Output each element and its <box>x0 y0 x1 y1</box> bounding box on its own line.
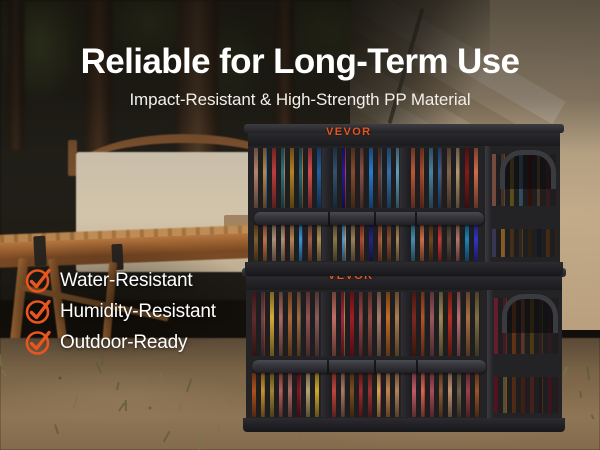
headline: Reliable for Long-Term Use <box>0 44 600 79</box>
crate-vent-panel <box>254 225 321 261</box>
feature-label: Water-Resistant <box>60 270 193 292</box>
crate-lid-lip <box>244 124 564 133</box>
crate-slats <box>411 148 478 208</box>
feature-item: Humidity-Resistant <box>26 297 216 326</box>
crate-slats <box>411 225 478 261</box>
crate-vent-panel <box>333 148 400 208</box>
storage-crate-lower: VEVOR <box>246 268 562 432</box>
hinge-segment <box>374 360 376 373</box>
crate-corner-edge <box>487 290 494 419</box>
crate-slats <box>252 373 320 417</box>
hinge-segment <box>416 360 418 373</box>
crate-vent-panel <box>332 292 400 356</box>
crate-vent-panel <box>252 292 320 356</box>
crate-hinge-bar <box>254 212 484 225</box>
crate-slats <box>252 292 320 356</box>
crate-post <box>321 292 332 356</box>
crate-corner-edge <box>485 146 492 263</box>
crate-post <box>401 292 412 356</box>
crate-base <box>243 418 565 432</box>
crate-vent-panel <box>412 292 480 356</box>
crate-slats <box>494 377 558 413</box>
crate-post <box>321 373 332 417</box>
crate-vent-panel <box>333 225 400 261</box>
crate-base <box>245 262 563 276</box>
crate-vent-panel <box>412 373 480 417</box>
feature-item: Outdoor-Ready <box>26 328 216 357</box>
crate-post <box>400 148 411 208</box>
brand-logo-upper: VEVOR <box>326 126 372 138</box>
crate-vent-panel <box>411 225 478 261</box>
hinge-segment <box>415 212 417 225</box>
crate-vent-panel <box>252 373 320 417</box>
crate-side-vent-panel <box>494 377 558 413</box>
feature-item: Water-Resistant <box>26 266 216 295</box>
check-circle-icon <box>26 299 51 324</box>
crate-slats <box>412 292 480 356</box>
crate-slats <box>333 225 400 261</box>
hinge-segment <box>328 212 330 225</box>
crate-vent-panel <box>332 373 400 417</box>
storage-crate-upper: VEVOR <box>248 124 560 276</box>
crate-slats <box>332 292 400 356</box>
crate-post <box>400 225 411 261</box>
subheadline: Impact-Resistant & High-Strength PP Mate… <box>0 90 600 110</box>
hinge-segment <box>327 360 329 373</box>
crate-vent-panel <box>411 148 478 208</box>
crate-slats <box>254 225 321 261</box>
crate-handle <box>502 294 558 333</box>
crate-slats <box>492 229 556 257</box>
crate-slats <box>412 373 480 417</box>
feature-label: Humidity-Resistant <box>60 301 216 323</box>
feature-label: Outdoor-Ready <box>60 332 187 354</box>
crate-slats <box>333 148 400 208</box>
crate-vent-panel <box>254 148 321 208</box>
check-circle-icon <box>26 268 51 293</box>
product-banner: VEVOR VEVOR Reliable for Long-Term Use I… <box>0 0 600 450</box>
crate-post <box>322 148 333 208</box>
crate-slats <box>254 148 321 208</box>
hinge-segment <box>374 212 376 225</box>
crate-post <box>322 225 333 261</box>
crate-hinge-bar <box>252 360 486 373</box>
crate-post <box>401 373 412 417</box>
check-circle-icon <box>26 330 51 355</box>
crate-side-vent-panel <box>492 229 556 257</box>
crate-handle <box>500 150 556 189</box>
feature-list: Water-Resistant Humidity-Resistant Outdo… <box>26 266 216 359</box>
crate-slats <box>332 373 400 417</box>
